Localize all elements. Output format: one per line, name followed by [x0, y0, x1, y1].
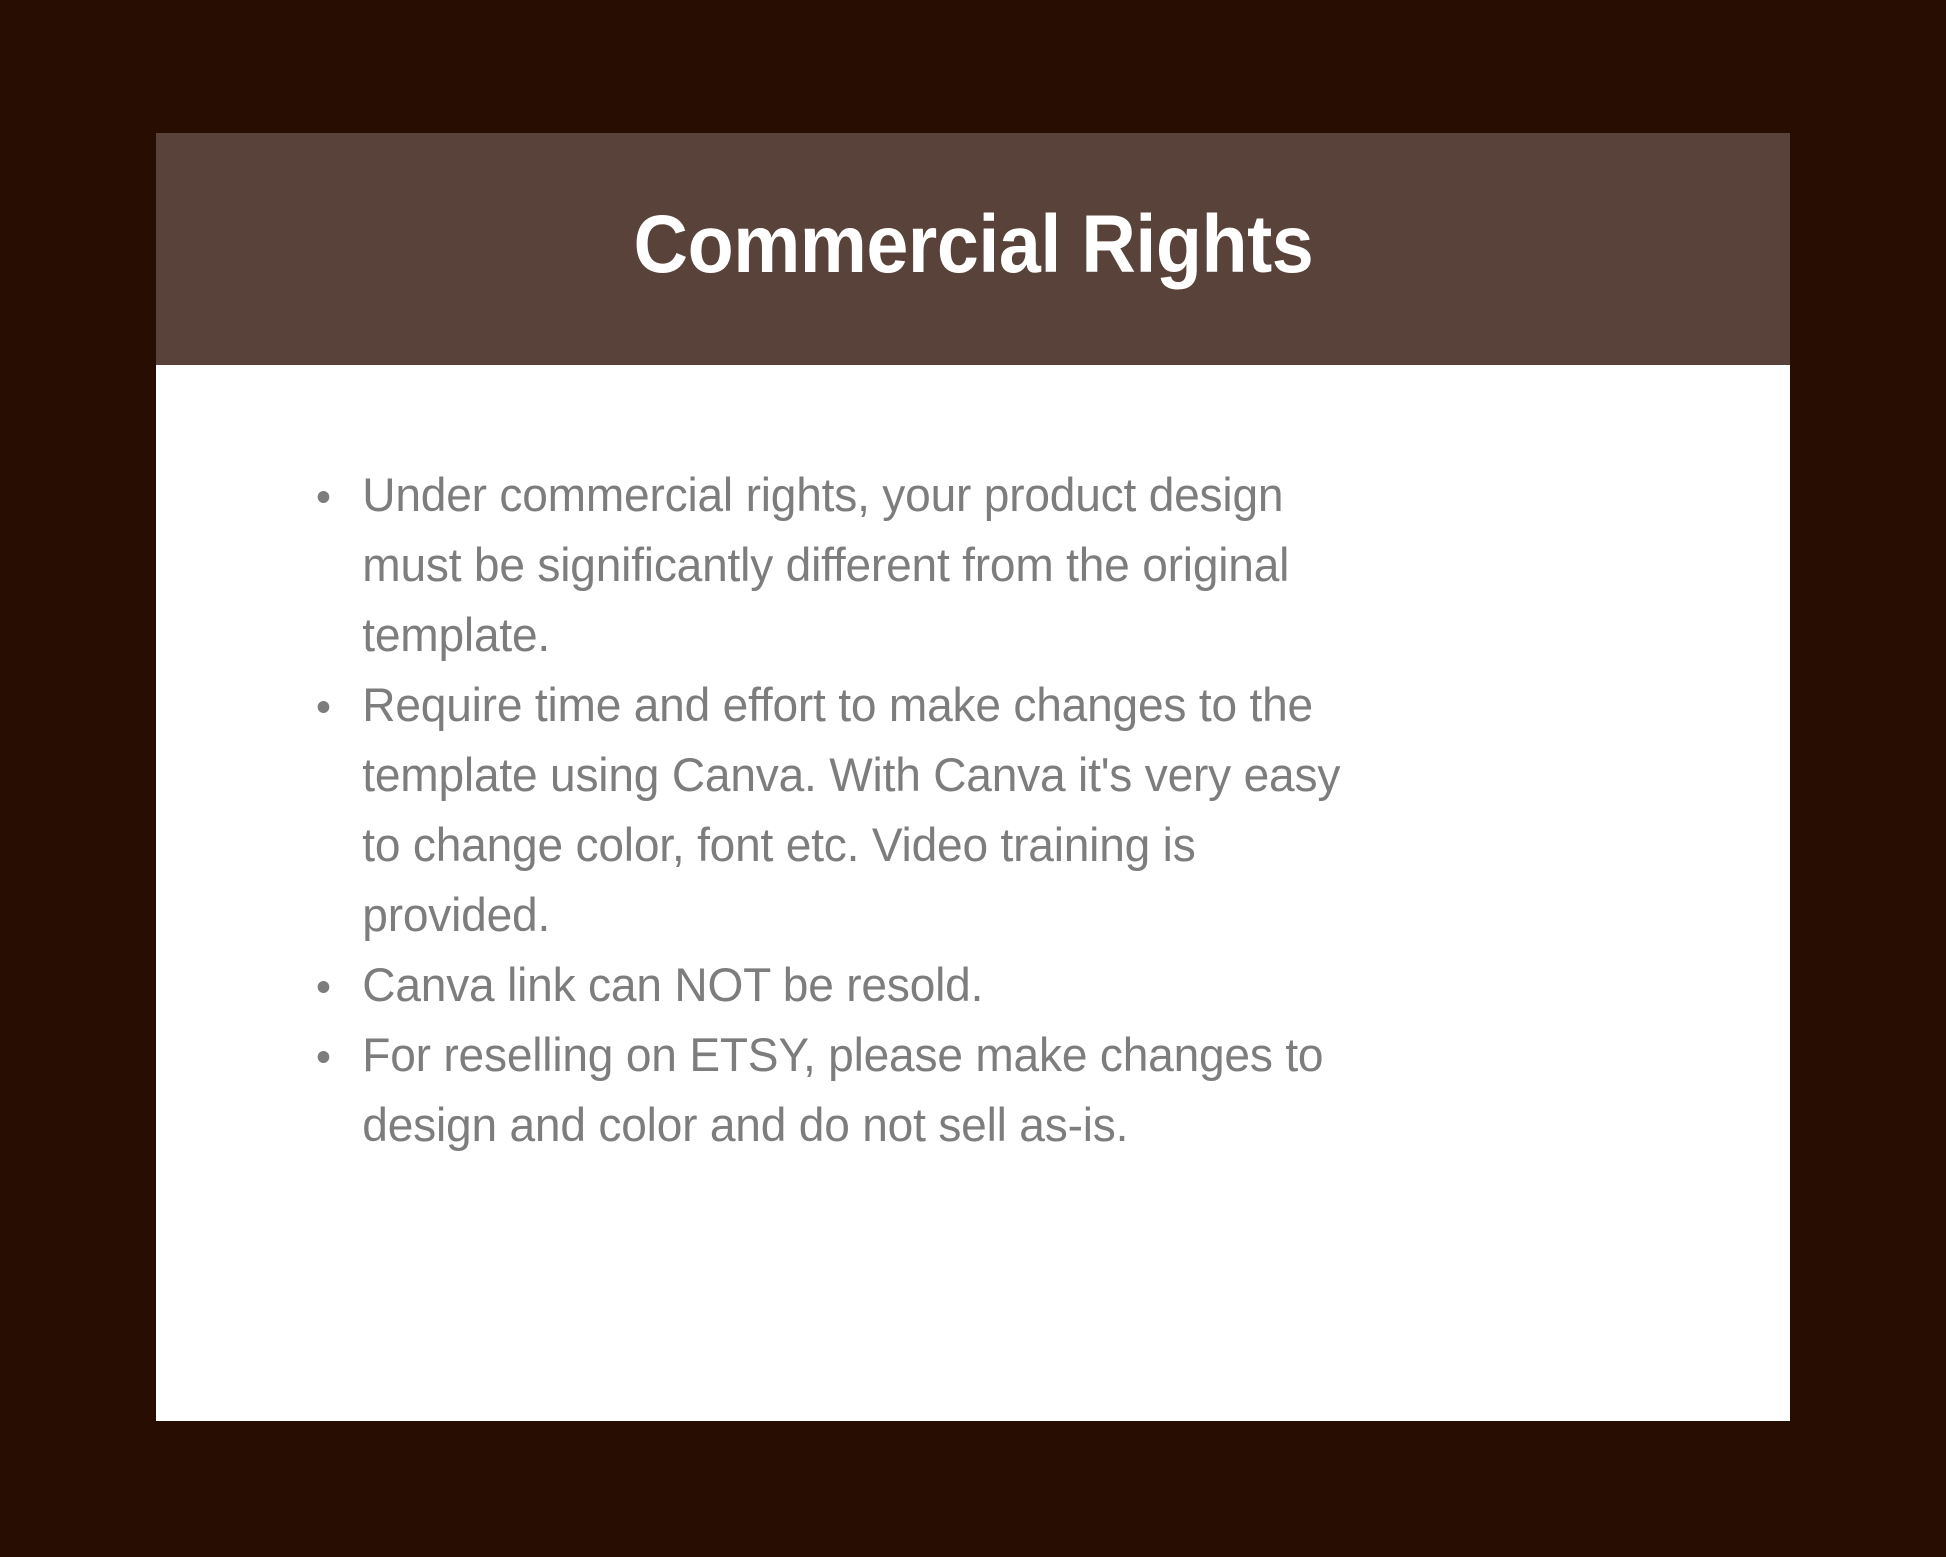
- list-item: Require time and effort to make changes …: [306, 671, 1342, 951]
- list-item: For reselling on ETSY, please make chang…: [306, 1021, 1342, 1161]
- list-item-text: For reselling on ETSY, please make chang…: [362, 1029, 1323, 1152]
- list-item-text: Canva link can NOT be resold.: [362, 959, 983, 1012]
- commercial-rights-card: Commercial Rights Under commercial right…: [156, 133, 1790, 1421]
- list-item: Under commercial rights, your product de…: [306, 461, 1342, 671]
- disc-bullet-icon: [318, 981, 330, 993]
- list-item-text: Require time and effort to make changes …: [362, 679, 1340, 942]
- rights-bullet-list: Under commercial rights, your product de…: [306, 461, 1640, 1161]
- disc-bullet-icon: [318, 701, 330, 713]
- list-item-text: Under commercial rights, your product de…: [362, 469, 1289, 662]
- page-title: Commercial Rights: [633, 202, 1313, 288]
- page-root: Commercial Rights Under commercial right…: [0, 0, 1946, 1557]
- card-header: Commercial Rights: [156, 133, 1790, 365]
- card-body: Under commercial rights, your product de…: [156, 365, 1790, 1201]
- disc-bullet-icon: [318, 491, 330, 503]
- disc-bullet-icon: [318, 1051, 330, 1063]
- list-item: Canva link can NOT be resold.: [306, 951, 1342, 1021]
